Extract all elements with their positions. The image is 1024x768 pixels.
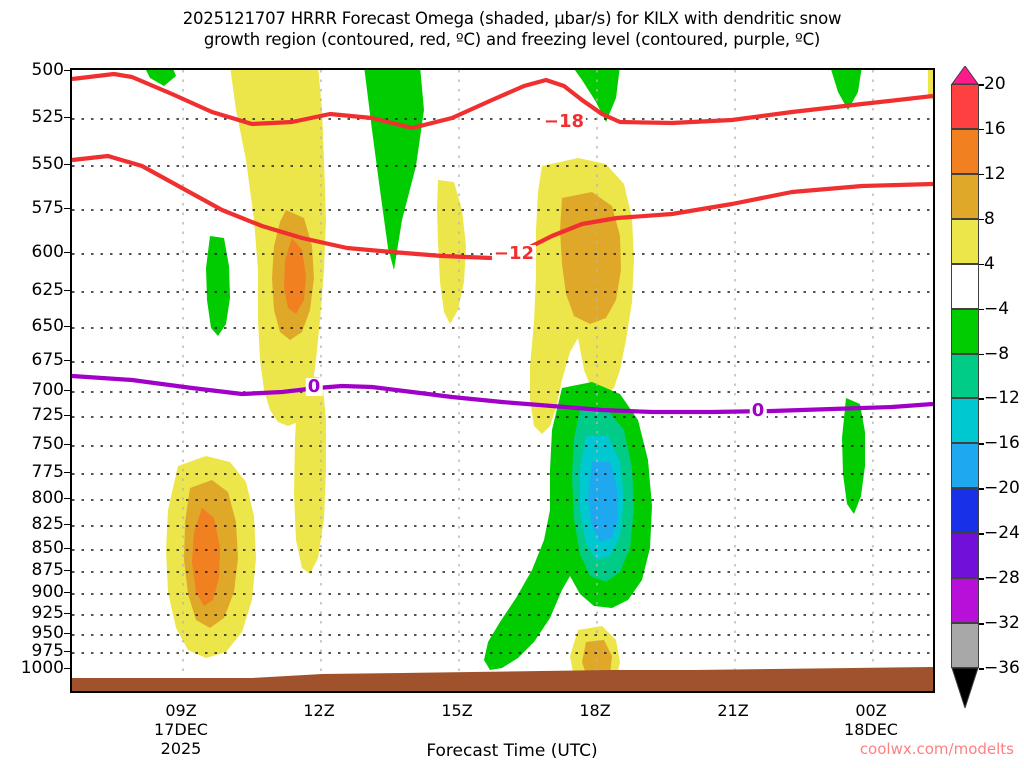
y-tick-text: 850 — [32, 538, 64, 558]
colorbar-segment — [951, 309, 979, 354]
colorbar-segment — [951, 174, 979, 219]
x-axis-tick-label: 15Z — [441, 701, 472, 720]
colorbar-tick-label: 8 — [984, 209, 995, 229]
colorbar-segment — [951, 533, 979, 578]
colorbar-tick-label: −32 — [984, 613, 1020, 633]
y-axis-tick-label: 500 — [0, 60, 64, 80]
y-axis-tick-label: 1000 — [0, 658, 64, 678]
y-axis-tick-label: 900 — [0, 582, 64, 602]
x-axis-tick-label: 18Z — [579, 701, 610, 720]
y-axis-tick-label: 650 — [0, 316, 64, 336]
colorbar-tick-label: −36 — [984, 658, 1020, 678]
y-tick-text: 825 — [32, 514, 64, 534]
y-tick-text: 550 — [32, 154, 64, 174]
colorbar-tick-label: −8 — [984, 344, 1009, 364]
y-axis-tick-label: 750 — [0, 434, 64, 454]
colorbar-tick-label: −4 — [984, 299, 1009, 319]
y-tick-text: 750 — [32, 434, 64, 454]
colorbar-tick-label: −28 — [984, 568, 1020, 588]
plot-area: −18−1200 — [70, 68, 935, 693]
y-tick-text: 575 — [32, 198, 64, 218]
y-tick-text: 675 — [32, 350, 64, 370]
y-axis-tick-label: 775 — [0, 462, 64, 482]
y-axis-tick-label: 925 — [0, 603, 64, 623]
terrain-fill — [72, 667, 933, 691]
colorbar-tick-label: 16 — [984, 119, 1006, 139]
x-axis-tick-label: 21Z — [717, 701, 748, 720]
colorbar-bottom-arrow — [951, 668, 979, 708]
y-tick-text: 800 — [32, 488, 64, 508]
colorbar-segment — [951, 129, 979, 174]
y-tick-text: 875 — [32, 560, 64, 580]
colorbar-segment — [951, 488, 979, 533]
colorbar-segment — [951, 84, 979, 129]
colorbar-segment — [951, 578, 979, 623]
colorbar-tick-label: −16 — [984, 433, 1020, 453]
x-axis-tick-label: 12Z — [303, 701, 334, 720]
colorbar-segment — [951, 264, 979, 309]
y-axis-tick-label: 875 — [0, 560, 64, 580]
y-axis-tick-label: 950 — [0, 623, 64, 643]
colorbar-tick-label: 20 — [984, 74, 1006, 94]
colorbar-segment — [951, 219, 979, 264]
y-tick-text: 925 — [32, 603, 64, 623]
chart-canvas: 2025121707 HRRR Forecast Omega (shaded, … — [0, 0, 1024, 768]
y-tick-text: 650 — [32, 316, 64, 336]
y-axis-tick-label: 825 — [0, 514, 64, 534]
colorbar-segment — [951, 354, 979, 399]
y-tick-text: 500 — [32, 60, 64, 80]
y-axis-tick-label: 800 — [0, 488, 64, 508]
colorbar-tick-label: −24 — [984, 523, 1020, 543]
watermark: coolwx.com/modelts — [860, 740, 1014, 758]
y-tick-text: 775 — [32, 462, 64, 482]
y-tick-text: 900 — [32, 582, 64, 602]
colorbar-segment — [951, 398, 979, 443]
colorbar-tick-label: 4 — [984, 254, 995, 274]
y-axis-tick-label: 675 — [0, 350, 64, 370]
colorbar-tick-label: 12 — [984, 164, 1006, 184]
y-tick-text: 725 — [32, 405, 64, 425]
terrain-layer — [72, 70, 933, 691]
plot-inner: −18−1200 — [72, 70, 933, 691]
y-tick-text: 950 — [32, 623, 64, 643]
chart-title: 2025121707 HRRR Forecast Omega (shaded, … — [0, 8, 1024, 50]
colorbar: 20161284−4−8−12−16−20−24−28−32−36 — [951, 66, 979, 686]
y-axis-tick-label: 550 — [0, 154, 64, 174]
colorbar-segment — [951, 623, 979, 668]
colorbar-segment — [951, 443, 979, 488]
y-axis-tick-label: 625 — [0, 280, 64, 300]
y-axis-tick-label: 575 — [0, 198, 64, 218]
colorbar-top-arrow — [951, 66, 979, 84]
y-axis-tick-label: 600 — [0, 242, 64, 262]
y-tick-text: 600 — [32, 242, 64, 262]
y-axis-tick-label: 725 — [0, 405, 64, 425]
y-tick-text: 1000 — [21, 658, 64, 678]
y-axis-tick-label: 850 — [0, 538, 64, 558]
y-tick-text: 525 — [32, 107, 64, 127]
y-axis-tick-label: 700 — [0, 380, 64, 400]
y-axis-tick-label: 525 — [0, 107, 64, 127]
colorbar-tick-label: −12 — [984, 388, 1020, 408]
y-tick-text: 625 — [32, 280, 64, 300]
y-tick-text: 700 — [32, 380, 64, 400]
x-axis-tick-label: 00Z 18DEC — [844, 701, 898, 739]
colorbar-tick-label: −20 — [984, 478, 1020, 498]
